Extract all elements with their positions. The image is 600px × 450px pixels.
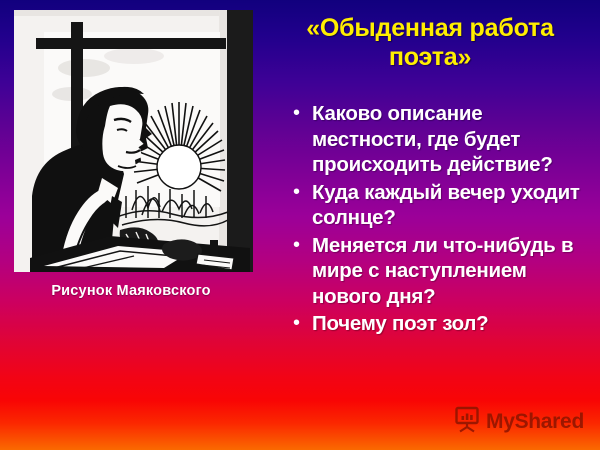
presentation-board-icon (452, 404, 482, 439)
bullet-marker-icon: • (288, 180, 312, 205)
list-item-label: Куда каждый вечер уходит солнце? (312, 180, 596, 231)
poet-at-window-drawing (14, 10, 253, 272)
bullet-marker-icon: • (288, 233, 312, 258)
list-item-label: Меняется ли что-нибудь в мире с наступле… (312, 233, 596, 310)
question-list: • Каково описание местности, где будет п… (288, 101, 596, 339)
illustration-image (14, 10, 253, 272)
myshared-label: MyShared (486, 411, 584, 432)
slide-title: «Обыденная работа поэта» (262, 14, 598, 72)
illustration-caption: Рисунок Маяковского (0, 283, 262, 299)
presentation-slide: Рисунок Маяковского «Обыденная работа по… (0, 0, 600, 450)
bullet-marker-icon: • (288, 311, 312, 336)
slide-title-line-1: «Обыденная работа (262, 14, 598, 43)
list-item-label: Каково описание местности, где будет про… (312, 101, 596, 178)
slide-title-line-2: поэта» (262, 43, 598, 72)
myshared-watermark: MyShared (452, 404, 584, 439)
list-item: • Куда каждый вечер уходит солнце? (288, 180, 596, 231)
list-item-label: Почему поэт зол? (312, 311, 596, 337)
bullet-marker-icon: • (288, 101, 312, 126)
list-item: • Почему поэт зол? (288, 311, 596, 337)
list-item: • Меняется ли что-нибудь в мире с наступ… (288, 233, 596, 310)
list-item: • Каково описание местности, где будет п… (288, 101, 596, 178)
